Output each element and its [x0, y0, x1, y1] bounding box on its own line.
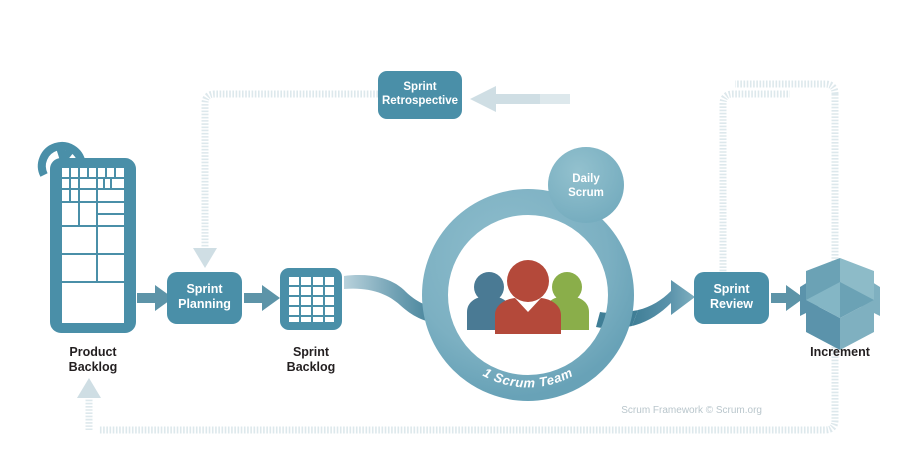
- increment-caption: Increment: [810, 345, 871, 359]
- node-daily-scrum[interactable]: Daily Scrum: [548, 147, 624, 223]
- sprint-planning-label-line1: Sprint: [186, 282, 223, 296]
- connector-review-to-retrospective: [470, 86, 570, 112]
- node-sprint-backlog[interactable]: [280, 268, 342, 330]
- diagram-canvas: Product Backlog Sprint Planning: [0, 0, 897, 463]
- connector-review-vertical: [723, 94, 790, 284]
- node-product-backlog[interactable]: [42, 146, 136, 333]
- sprint-retrospective-label-line1: Sprint: [403, 81, 436, 93]
- product-backlog-caption-line2: Backlog: [69, 360, 118, 374]
- sprint-review-label-line2: Review: [710, 297, 753, 311]
- sprint-review-label-line1: Sprint: [713, 282, 750, 296]
- node-sprint-review[interactable]: Sprint Review: [694, 272, 769, 324]
- sprint-retrospective-label-line2: Retrospective: [382, 95, 458, 107]
- node-sprint-retrospective[interactable]: Sprint Retrospective: [378, 71, 462, 119]
- backlog-cells: [62, 168, 124, 323]
- connector-planning-to-sprint-backlog: [244, 285, 280, 311]
- connector-review-to-increment: [771, 285, 804, 311]
- credit-text: Scrum Framework © Scrum.org: [621, 405, 762, 416]
- connector-retrospective-to-planning: [193, 94, 378, 268]
- daily-scrum-label-line2: Scrum: [568, 187, 604, 199]
- scrum-framework-diagram: Product Backlog Sprint Planning: [0, 0, 897, 463]
- open-box-icon: [800, 258, 880, 350]
- node-sprint-planning[interactable]: Sprint Planning: [167, 272, 242, 324]
- sprint-planning-label-line2: Planning: [178, 297, 231, 311]
- daily-scrum-label-line1: Daily: [572, 173, 600, 185]
- three-people-icon: [467, 260, 589, 334]
- node-increment[interactable]: Increment: [800, 258, 880, 359]
- sprint-backlog-caption-line1: Sprint: [293, 345, 330, 359]
- node-scrum-team[interactable]: 1 Scrum Team: [435, 202, 621, 390]
- sprint-backlog-caption-line2: Backlog: [287, 360, 336, 374]
- product-backlog-caption-line1: Product: [69, 345, 117, 359]
